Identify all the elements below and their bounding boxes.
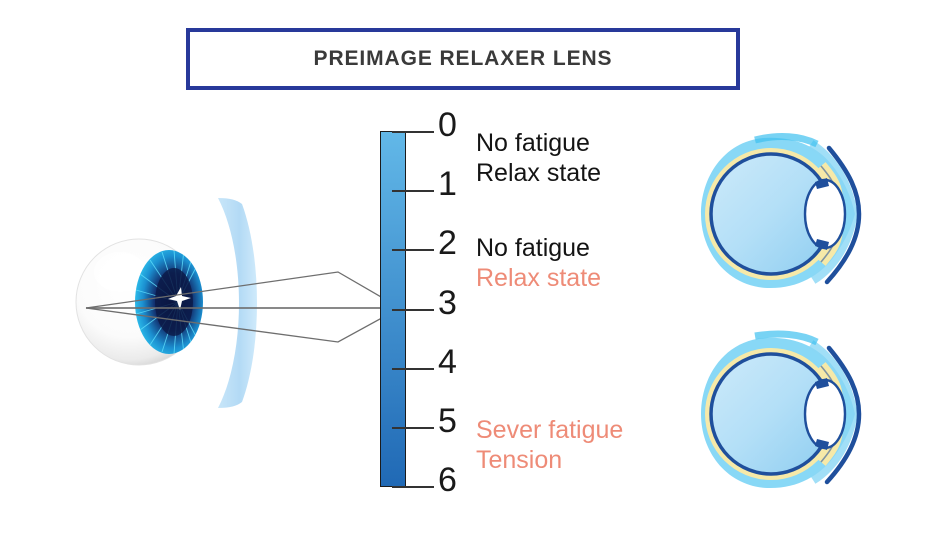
scale-number-2: 2 <box>438 226 457 260</box>
label-line: Tension <box>476 445 623 475</box>
label-block-no-fatigue-relax-state-dark: No fatigue Relax state <box>476 128 601 189</box>
relaxer-lens <box>218 198 257 408</box>
scale-tick-0 <box>392 131 434 133</box>
eye-cross-section-tense <box>693 330 873 495</box>
label-block-sever-fatigue-tension: Sever fatigue Tension <box>476 415 623 476</box>
scale-tick-3 <box>392 309 434 311</box>
eye-cross-section-relaxed <box>693 130 873 295</box>
crystalline-lens <box>805 180 845 248</box>
scale-number-3: 3 <box>438 286 457 320</box>
scale-tick-5 <box>392 427 434 429</box>
label-line: Relax state <box>476 263 601 293</box>
eye-cross-section-svg <box>693 130 873 295</box>
label-line: No fatigue <box>476 233 601 263</box>
scale-number-4: 4 <box>438 345 457 379</box>
page-title: PREIMAGE RELAXER LENS <box>314 47 613 71</box>
ray-diagram-svg <box>70 190 400 415</box>
label-line: Relax state <box>476 158 601 188</box>
scale-tick-6 <box>392 486 434 488</box>
label-line: No fatigue <box>476 128 601 158</box>
label-block-no-fatigue-relax-state-coral: No fatigue Relax state <box>476 233 601 294</box>
scale-tick-4 <box>392 368 434 370</box>
label-line: Sever fatigue <box>476 415 623 445</box>
scale-number-5: 5 <box>438 404 457 438</box>
scale-tick-1 <box>392 190 434 192</box>
scale-number-1: 1 <box>438 167 457 201</box>
iris <box>135 250 203 354</box>
scale-number-0: 0 <box>438 108 457 142</box>
scale-number-6: 6 <box>438 463 457 497</box>
eye-with-relaxer-lens-ray-diagram <box>70 190 400 415</box>
crystalline-lens <box>805 380 845 448</box>
diagram-canvas: PREIMAGE RELAXER LENS <box>0 0 950 550</box>
scale-tick-2 <box>392 249 434 251</box>
title-box: PREIMAGE RELAXER LENS <box>186 28 740 90</box>
eye-cross-section-svg <box>693 330 873 495</box>
